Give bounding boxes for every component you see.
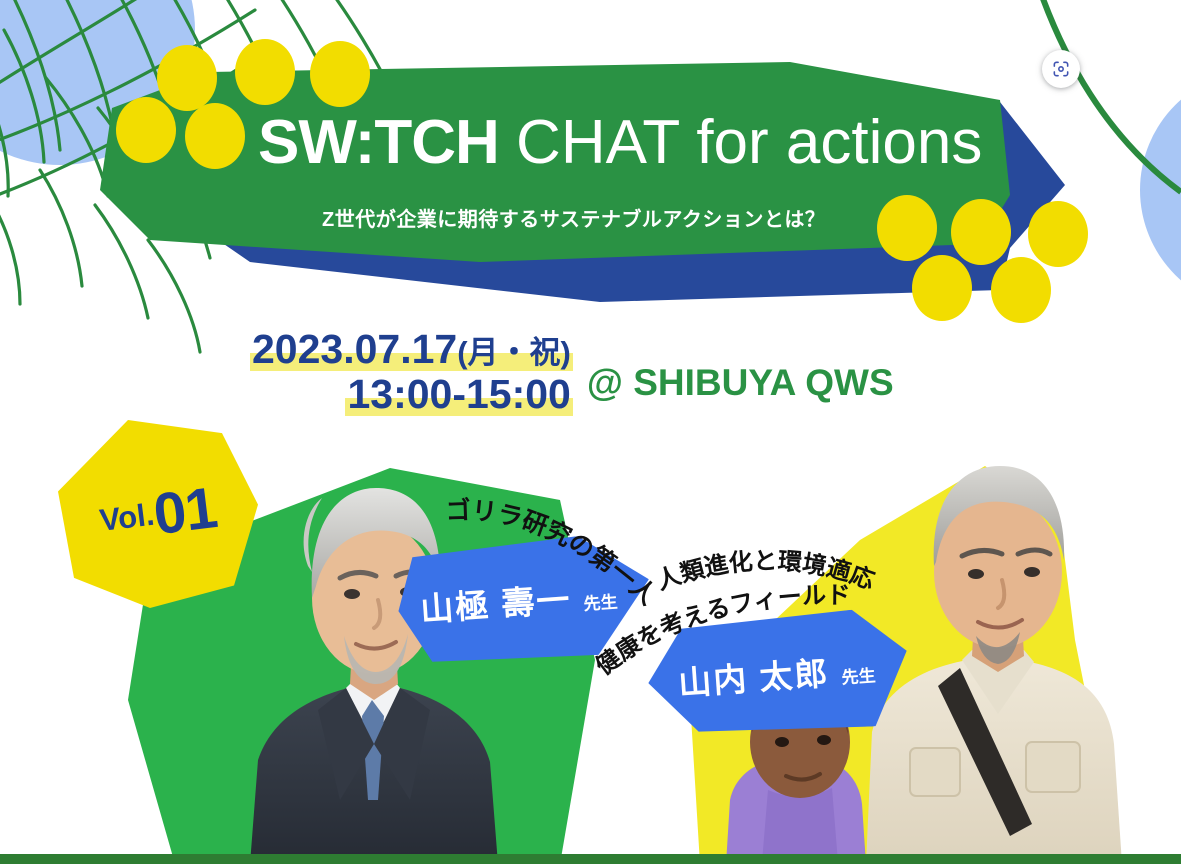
lens-icon [1051, 59, 1071, 79]
google-lens-button[interactable] [1042, 50, 1080, 88]
event-poster: SW:TCH CHAT for actions Z世代が企業に期待するサステナブ… [0, 0, 1181, 864]
bottom-green-strip [0, 854, 1181, 864]
speaker1-tagline-path: ゴリラ研究の第一人者 [0, 0, 661, 610]
speaker-taglines: ゴリラ研究の第一人者 人類進化と環境適応から 健康を考えるフィールドワーカー [0, 0, 1181, 864]
speaker2-tagline-line1-path: 人類進化と環境適応から [0, 0, 878, 595]
speaker1-tagline: ゴリラ研究の第一人者 [0, 0, 661, 610]
speaker2-tagline-line1: 人類進化と環境適応から [0, 0, 878, 595]
